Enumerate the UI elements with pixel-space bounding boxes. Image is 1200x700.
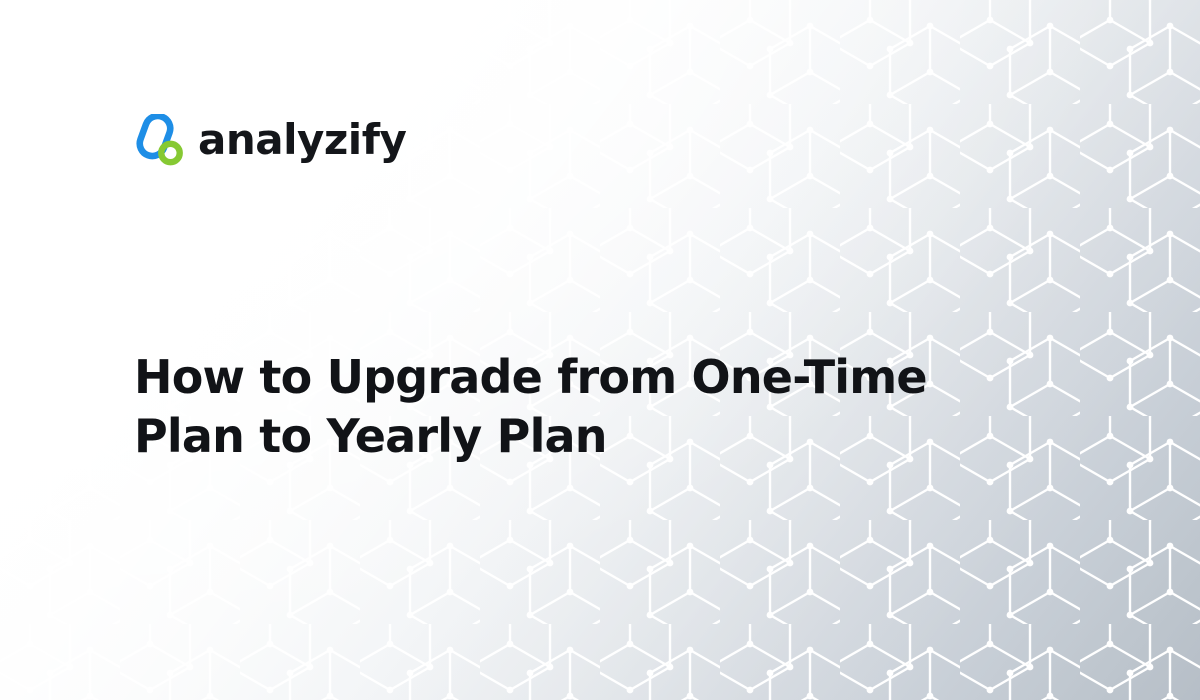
page-title: How to Upgrade from One-Time Plan to Yea… xyxy=(134,348,934,466)
analyzify-logo-mark-icon xyxy=(134,114,184,166)
brand-logo[interactable]: analyzify xyxy=(134,114,406,166)
blog-cover-banner: analyzify How to Upgrade from One-Time P… xyxy=(0,0,1200,700)
brand-wordmark: analyzify xyxy=(198,119,406,161)
